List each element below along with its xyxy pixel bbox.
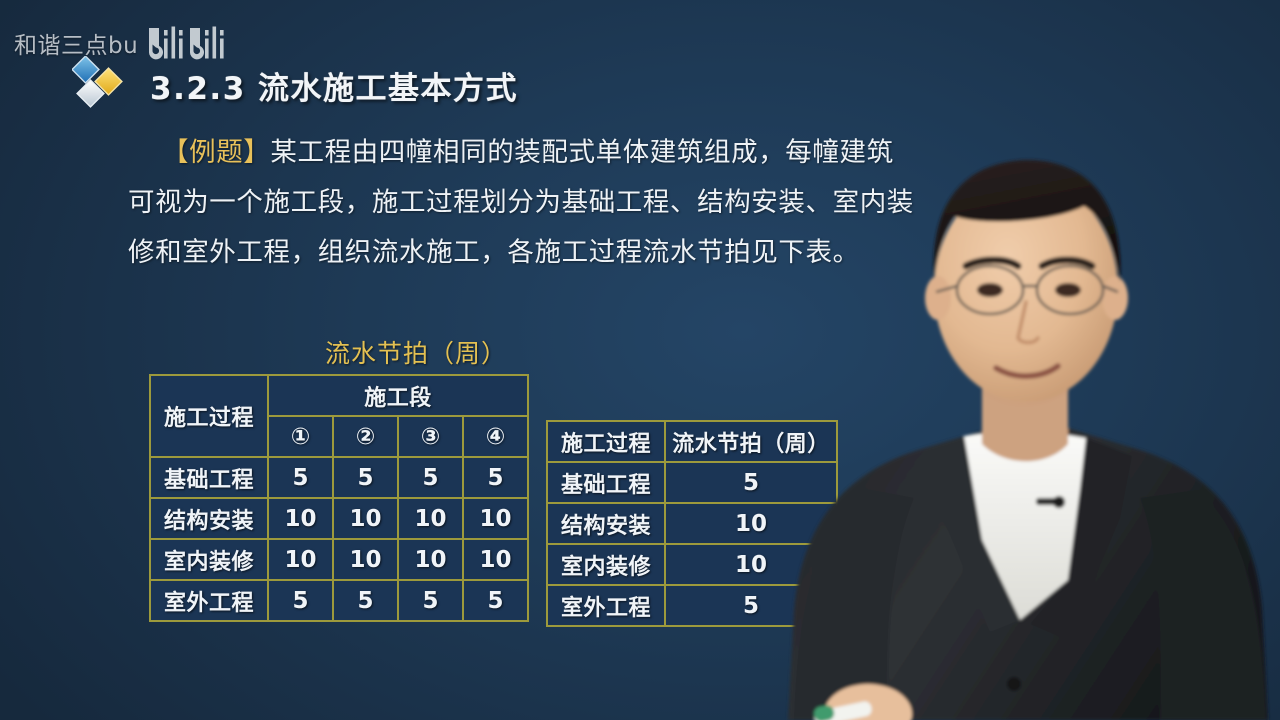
- cell-value: 10: [268, 498, 333, 539]
- header-value: 流水节拍（周）: [665, 421, 837, 462]
- row-process: 室外工程: [150, 580, 268, 621]
- table-row: 室内装修 10 10 10 10: [150, 539, 528, 580]
- cell-value: 5: [398, 457, 463, 498]
- watermark: 和谐三点bu: [14, 26, 239, 60]
- example-tag: 【例题】: [162, 137, 270, 168]
- table-row: 结构安装 10: [547, 503, 837, 544]
- slide-title-row: 3.2.3 流水施工基本方式: [72, 56, 518, 114]
- cell-value: 10: [333, 539, 398, 580]
- diamond-logo-icon: [72, 56, 134, 114]
- table-row: 施工过程 流水节拍（周）: [547, 421, 837, 462]
- segment-label-4: ④: [463, 416, 528, 457]
- table-row: 基础工程 5 5 5 5: [150, 457, 528, 498]
- row-process: 结构安装: [150, 498, 268, 539]
- segment-label-2: ②: [333, 416, 398, 457]
- cell-value: 5: [398, 580, 463, 621]
- cell-value: 10: [333, 498, 398, 539]
- cell-value: 10: [398, 539, 463, 580]
- cell-value: 5: [463, 457, 528, 498]
- cell-value: 10: [268, 539, 333, 580]
- table-flow-rhythm-summary: 施工过程 流水节拍（周） 基础工程 5 结构安装 10 室内装修 10 室外工程…: [546, 420, 838, 627]
- table-row: 室外工程 5: [547, 585, 837, 626]
- row-process: 基础工程: [150, 457, 268, 498]
- table-row: 室外工程 5 5 5 5: [150, 580, 528, 621]
- table-row: 基础工程 5: [547, 462, 837, 503]
- cell-value: 5: [665, 585, 837, 626]
- cell-value: 10: [463, 498, 528, 539]
- segment-label-3: ③: [398, 416, 463, 457]
- cell-value: 10: [398, 498, 463, 539]
- table-row: 室内装修 10: [547, 544, 837, 585]
- row-process: 室内装修: [547, 544, 665, 585]
- header-process: 施工过程: [547, 421, 665, 462]
- cell-value: 5: [333, 580, 398, 621]
- segment-label-1: ①: [268, 416, 333, 457]
- table-row: 施工过程 施工段: [150, 375, 528, 416]
- row-process: 结构安装: [547, 503, 665, 544]
- page-title: 3.2.3 流水施工基本方式: [150, 63, 518, 108]
- table-row: 结构安装 10 10 10 10: [150, 498, 528, 539]
- presenter-video-overlay: [768, 20, 1280, 720]
- bilibili-logo-icon: [147, 26, 239, 60]
- cell-value: 5: [463, 580, 528, 621]
- cell-value: 10: [665, 544, 837, 585]
- table-caption: 流水节拍（周）: [325, 334, 507, 370]
- table-flow-rhythm-by-segment: 施工过程 施工段 ① ② ③ ④ 基础工程 5 5 5 5 结构安装 10 10…: [149, 374, 529, 622]
- watermark-username: 和谐三点bu: [14, 26, 138, 60]
- slide-stage: 和谐三点bu: [0, 0, 1280, 720]
- cell-value: 10: [463, 539, 528, 580]
- cell-value: 5: [268, 457, 333, 498]
- cell-value: 10: [665, 503, 837, 544]
- cell-value: 5: [333, 457, 398, 498]
- row-process: 室内装修: [150, 539, 268, 580]
- header-segment-group: 施工段: [268, 375, 528, 416]
- example-paragraph: 【例题】某工程由四幢相同的装配式单体建筑组成，每幢建筑可视为一个施工段，施工过程…: [128, 128, 918, 278]
- header-process: 施工过程: [150, 375, 268, 457]
- row-process: 室外工程: [547, 585, 665, 626]
- row-process: 基础工程: [547, 462, 665, 503]
- cell-value: 5: [665, 462, 837, 503]
- cell-value: 5: [268, 580, 333, 621]
